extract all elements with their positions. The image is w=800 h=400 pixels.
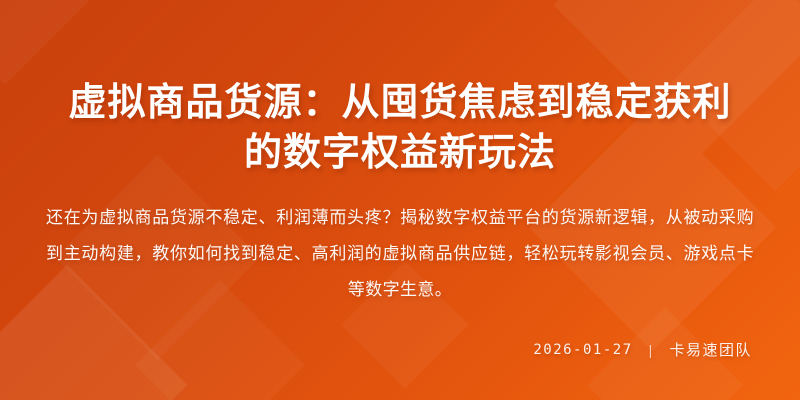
page-subtitle-text: 还在为虚拟商品货源不稳定、利润薄而头疼？揭秘数字权益平台的货源新逻辑，从被动采购… [46,200,754,308]
page-title-line-1: 虚拟商品货源：从囤货焦虑到稳定获利 [38,78,762,128]
page-title-line-2: 的数字权益新玩法 [38,128,762,178]
banner-content: 虚拟商品货源：从囤货焦虑到稳定获利 的数字权益新玩法 还在为虚拟商品货源不稳定、… [0,0,800,400]
page-title: 虚拟商品货源：从囤货焦虑到稳定获利 的数字权益新玩法 [38,78,762,178]
page-subtitle: 还在为虚拟商品货源不稳定、利润薄而头疼？揭秘数字权益平台的货源新逻辑，从被动采购… [38,200,762,308]
article-cover-banner: 虚拟商品货源：从囤货焦虑到稳定获利 的数字权益新玩法 还在为虚拟商品货源不稳定、… [0,0,800,400]
